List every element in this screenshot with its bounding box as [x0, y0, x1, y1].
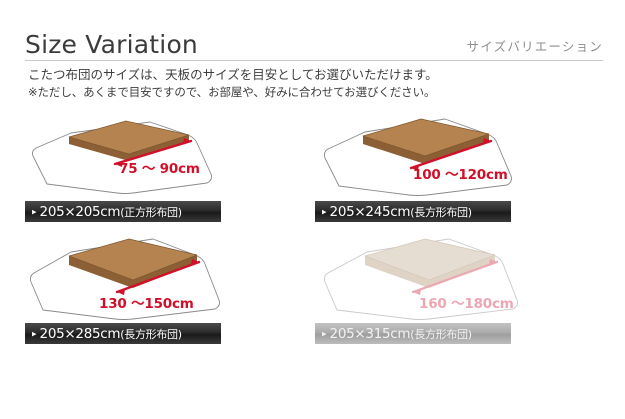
size-value: 205×205cm: [40, 204, 121, 220]
size-caption-text: 205×205cm(正方形布団): [40, 204, 182, 220]
size-caption-bar[interactable]: ▸ 205×205cm(正方形布団): [25, 201, 221, 222]
size-panel-205x245[interactable]: 100 ～120cm ▸ 205×245cm(長方形布団): [315, 108, 545, 222]
shape-value: (長方形布団): [410, 206, 471, 219]
size-value: 205×245cm: [330, 204, 411, 220]
size-variation-grid: 75 ～ 90cm ▸ 205×205cm(正方形布団) 100 ～120cm …: [25, 108, 603, 344]
size-caption-text: 205×285cm(長方形布団): [40, 326, 182, 342]
kotatsu-illustration-205x285: 130 ～150cm: [25, 230, 255, 320]
bullet-arrow-icon: ▸: [32, 208, 37, 217]
size-panel-205x315[interactable]: 160 ～180cm ▸ 205×315cm(長方形布団): [315, 230, 545, 344]
dimension-label: 75 ～ 90cm: [119, 157, 200, 177]
size-caption-text: 205×245cm(長方形布団): [330, 204, 472, 220]
intro-line-2: ※ただし、あくまで目安ですので、お部屋や、好みに合わせてお選びください。: [28, 84, 608, 102]
kotatsu-diagram-icon: [25, 108, 255, 198]
dimension-label: 100 ～120cm: [413, 163, 508, 183]
kotatsu-illustration-205x315: 160 ～180cm: [315, 230, 545, 320]
size-caption-bar[interactable]: ▸ 205×315cm(長方形布団): [315, 323, 511, 344]
bullet-arrow-icon: ▸: [322, 330, 327, 339]
kotatsu-illustration-205x205: 75 ～ 90cm: [25, 108, 255, 198]
size-panel-205x205[interactable]: 75 ～ 90cm ▸ 205×205cm(正方形布団): [25, 108, 255, 222]
page-header: Size Variation サイズバリエーション: [25, 28, 603, 61]
size-panel-205x285[interactable]: 130 ～150cm ▸ 205×285cm(長方形布団): [25, 230, 255, 344]
size-value: 205×285cm: [40, 326, 121, 342]
bullet-arrow-icon: ▸: [32, 330, 37, 339]
kotatsu-diagram-icon: [315, 108, 545, 198]
intro-paragraph: こたつ布団のサイズは、天板のサイズを目安としてお選びいただけます。 ※ただし、あ…: [28, 66, 608, 101]
bullet-arrow-icon: ▸: [322, 208, 327, 217]
shape-value: (正方形布団): [120, 206, 181, 219]
intro-line-1: こたつ布団のサイズは、天板のサイズを目安としてお選びいただけます。: [28, 66, 608, 84]
size-value: 205×315cm: [330, 326, 411, 342]
size-caption-bar[interactable]: ▸ 205×245cm(長方形布団): [315, 201, 511, 222]
size-caption-bar[interactable]: ▸ 205×285cm(長方形布団): [25, 323, 221, 344]
shape-value: (長方形布団): [120, 328, 181, 341]
page-subtitle-japanese: サイズバリエーション: [467, 36, 603, 60]
size-caption-text: 205×315cm(長方形布団): [330, 326, 472, 342]
dimension-label: 160 ～180cm: [419, 292, 514, 312]
page-title: Size Variation: [25, 32, 198, 60]
shape-value: (長方形布団): [410, 328, 471, 341]
kotatsu-illustration-205x245: 100 ～120cm: [315, 108, 545, 198]
dimension-label: 130 ～150cm: [99, 292, 194, 312]
